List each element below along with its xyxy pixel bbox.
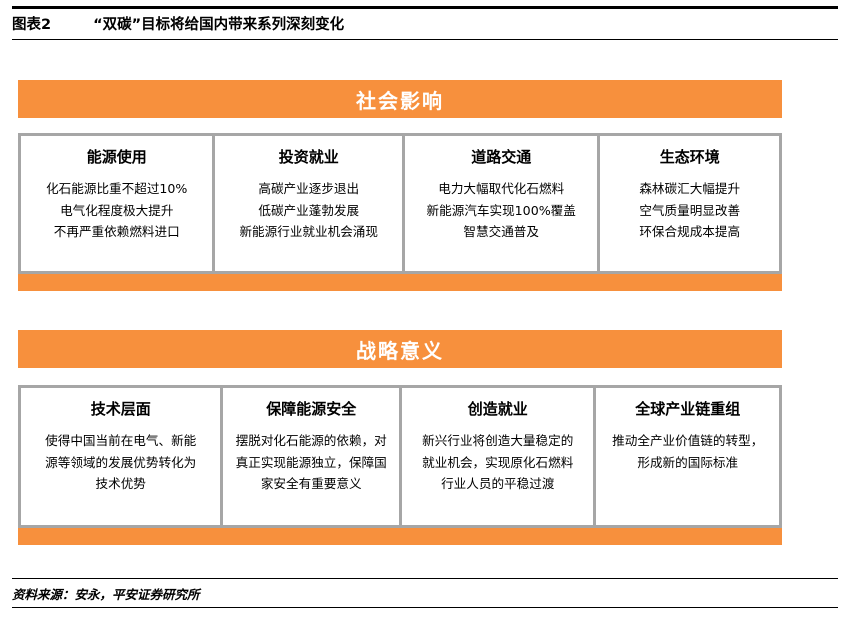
column-lines: 使得中国当前在电气、新能 源等领域的发展优势转化为 技术优势 — [29, 430, 212, 495]
column-line: 高碳产业逐步退出 — [258, 178, 359, 200]
column-line: 真正实现能源独立，保障国 — [231, 452, 391, 474]
column-lines: 推动全产业价值链的转型， 形成新的国际标准 — [604, 430, 771, 473]
header-rule-bottom — [12, 39, 838, 40]
column-title: 投资就业 — [279, 146, 339, 167]
strategy-column-energy-security: 保障能源安全 摆脱对化石能源的依赖，对 真正实现能源独立，保障国 家安全有重要意… — [220, 388, 399, 525]
accent-strip-social — [18, 274, 782, 291]
column-line: 家安全有重要意义 — [231, 473, 391, 495]
column-lines: 森林碳汇大幅提升 空气质量明显改善 环保合规成本提高 — [608, 178, 771, 243]
section-band-label: 社会影响 — [356, 85, 444, 114]
column-title: 道路交通 — [471, 146, 531, 167]
strategy-column-technology: 技术层面 使得中国当前在电气、新能 源等领域的发展优势转化为 技术优势 — [21, 388, 220, 525]
figure-number: 图表2 — [12, 13, 51, 34]
accent-strip-strategy — [18, 528, 782, 545]
column-line: 行业人员的平稳过渡 — [410, 473, 585, 495]
column-line: 新能源行业就业机会涌现 — [239, 221, 378, 243]
column-line: 化石能源比重不超过10% — [46, 178, 187, 200]
social-column-ecology-environment: 生态环境 森林碳汇大幅提升 空气质量明显改善 环保合规成本提高 — [597, 136, 779, 271]
figure-header: 图表2 “双碳”目标将给国内带来系列深刻变化 — [12, 6, 838, 40]
column-line: 森林碳汇大幅提升 — [639, 178, 740, 200]
social-column-energy-use: 能源使用 化石能源比重不超过10% 电气化程度极大提升 不再严重依赖燃料进口 — [21, 136, 212, 271]
column-line: 就业机会，实现原化石燃料 — [410, 452, 585, 474]
strategy-column-job-creation: 创造就业 新兴行业将创造大量稳定的 就业机会，实现原化石燃料 行业人员的平稳过渡 — [399, 388, 593, 525]
column-line: 技术优势 — [29, 473, 212, 495]
column-line: 智慧交通普及 — [463, 221, 539, 243]
column-title: 保障能源安全 — [266, 398, 356, 419]
section-band-label: 战略意义 — [356, 335, 444, 364]
column-lines: 新兴行业将创造大量稳定的 就业机会，实现原化石燃料 行业人员的平稳过渡 — [410, 430, 585, 495]
column-line: 环保合规成本提高 — [639, 221, 740, 243]
page-title: “双碳”目标将给国内带来系列深刻变化 — [93, 13, 344, 34]
column-line: 电气化程度极大提升 — [60, 200, 173, 222]
column-lines: 电力大幅取代化石燃料 新能源汽车实现100%覆盖 智慧交通普及 — [413, 178, 589, 243]
source-note: 资料来源：安永，平安证券研究所 — [12, 579, 838, 607]
column-title: 创造就业 — [468, 398, 528, 419]
column-line: 空气质量明显改善 — [639, 200, 740, 222]
column-line: 新兴行业将创造大量稳定的 — [410, 430, 585, 452]
strategy-column-global-supply-chain: 全球产业链重组 推动全产业价值链的转型， 形成新的国际标准 — [593, 388, 779, 525]
column-line: 源等领域的发展优势转化为 — [29, 452, 212, 474]
section-band-social-impact: 社会影响 — [18, 80, 782, 118]
column-line: 低碳产业蓬勃发展 — [258, 200, 359, 222]
column-line: 推动全产业价值链的转型， — [604, 430, 771, 452]
social-column-road-transport: 道路交通 电力大幅取代化石燃料 新能源汽车实现100%覆盖 智慧交通普及 — [402, 136, 597, 271]
social-column-investment-employment: 投资就业 高碳产业逐步退出 低碳产业蓬勃发展 新能源行业就业机会涌现 — [212, 136, 402, 271]
figure-footer: 资料来源：安永，平安证券研究所 — [12, 578, 838, 608]
column-title: 生态环境 — [660, 146, 720, 167]
column-lines: 高碳产业逐步退出 低碳产业蓬勃发展 新能源行业就业机会涌现 — [223, 178, 394, 243]
section-band-strategic-significance: 战略意义 — [18, 330, 782, 368]
column-title: 全球产业链重组 — [635, 398, 740, 419]
title-row: 图表2 “双碳”目标将给国内带来系列深刻变化 — [12, 9, 838, 39]
column-line: 使得中国当前在电气、新能 — [29, 430, 212, 452]
column-line: 电力大幅取代化石燃料 — [438, 178, 564, 200]
column-title: 能源使用 — [87, 146, 147, 167]
footer-rule-bottom — [12, 607, 838, 608]
column-line: 不再严重依赖燃料进口 — [54, 221, 180, 243]
column-lines: 摆脱对化石能源的依赖，对 真正实现能源独立，保障国 家安全有重要意义 — [231, 430, 391, 495]
strategic-significance-table: 技术层面 使得中国当前在电气、新能 源等领域的发展优势转化为 技术优势 保障能源… — [18, 385, 782, 528]
social-impact-table: 能源使用 化石能源比重不超过10% 电气化程度极大提升 不再严重依赖燃料进口 投… — [18, 133, 782, 274]
column-line: 新能源汽车实现100%覆盖 — [427, 200, 576, 222]
column-line: 形成新的国际标准 — [604, 452, 771, 474]
column-lines: 化石能源比重不超过10% 电气化程度极大提升 不再严重依赖燃料进口 — [29, 178, 204, 243]
column-title: 技术层面 — [91, 398, 151, 419]
column-line: 摆脱对化石能源的依赖，对 — [231, 430, 391, 452]
